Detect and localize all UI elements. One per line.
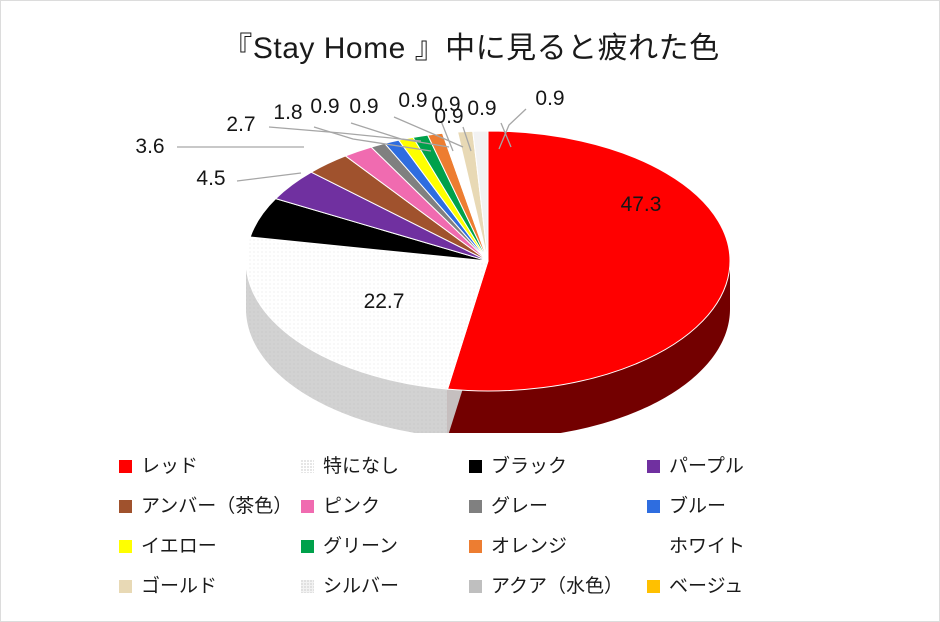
pie-data-label: 1.8 bbox=[273, 101, 302, 124]
legend-label: イエロー bbox=[141, 537, 217, 556]
chart-title: 『Stay Home 』中に見ると疲れた色 bbox=[1, 23, 940, 67]
pie-chart-plot-area[interactable]: 47.322.74.53.62.71.80.90.90.90.90.90.90.… bbox=[1, 63, 940, 433]
legend-row: アンバー（茶色） ピンク グレー ブルー bbox=[119, 486, 819, 526]
legend-swatch-icon bbox=[647, 580, 660, 593]
legend-row: イエロー グリーン オレンジ ホワイト bbox=[119, 526, 819, 566]
legend-label: ホワイト bbox=[669, 537, 745, 556]
pie-data-label: 47.3 bbox=[621, 193, 662, 216]
legend-swatch-icon bbox=[647, 460, 660, 473]
legend-swatch-icon bbox=[301, 580, 314, 593]
legend-row: レッド 特になし ブラック パープル bbox=[119, 446, 819, 486]
legend-swatch-icon bbox=[469, 460, 482, 473]
leader-line bbox=[237, 173, 301, 181]
legend-swatch-icon bbox=[647, 540, 660, 553]
legend-swatch-icon bbox=[301, 540, 314, 553]
legend-label: ピンク bbox=[323, 497, 380, 516]
pie-data-label: 0.9 bbox=[467, 97, 496, 120]
chart-legend: レッド 特になし ブラック パープル アンバー（茶色） ピンク bbox=[119, 446, 819, 606]
pie-chart-svg: 47.322.74.53.62.71.80.90.90.90.90.90.90.… bbox=[1, 63, 940, 433]
pie-data-label: 0.9 bbox=[398, 89, 427, 112]
legend-swatch-icon bbox=[469, 580, 482, 593]
legend-label: ブラック bbox=[491, 457, 567, 476]
legend-item-yellow[interactable]: イエロー bbox=[119, 526, 301, 566]
legend-item-gray[interactable]: グレー bbox=[469, 486, 647, 526]
legend-label: オレンジ bbox=[491, 537, 567, 556]
legend-label: パープル bbox=[669, 457, 744, 476]
legend-item-aqua[interactable]: アクア（水色） bbox=[469, 566, 647, 606]
legend-row: ゴールド シルバー アクア（水色） ベージュ bbox=[119, 566, 819, 606]
legend-swatch-icon bbox=[469, 500, 482, 513]
pie-data-label: 3.6 bbox=[135, 135, 164, 158]
legend-label: 特になし bbox=[323, 457, 399, 476]
legend-item-red[interactable]: レッド bbox=[119, 446, 301, 486]
legend-swatch-icon bbox=[301, 500, 314, 513]
legend-item-amber[interactable]: アンバー（茶色） bbox=[119, 486, 301, 526]
pie-data-label: 0.9 bbox=[434, 105, 463, 128]
legend-label: ベージュ bbox=[669, 577, 743, 596]
legend-item-none[interactable]: 特になし bbox=[301, 446, 469, 486]
legend-item-pink[interactable]: ピンク bbox=[301, 486, 469, 526]
legend-swatch-icon bbox=[469, 540, 482, 553]
legend-label: シルバー bbox=[323, 577, 399, 596]
legend-label: レッド bbox=[141, 457, 198, 476]
leader-line bbox=[269, 127, 421, 141]
legend-label: グレー bbox=[491, 497, 548, 516]
legend-label: グリーン bbox=[323, 537, 398, 556]
legend-swatch-icon bbox=[119, 540, 132, 553]
pie-data-label: 0.9 bbox=[535, 87, 564, 110]
pie-data-label: 4.5 bbox=[196, 167, 225, 190]
legend-swatch-icon bbox=[119, 500, 132, 513]
legend-item-gold[interactable]: ゴールド bbox=[119, 566, 301, 606]
legend-item-orange[interactable]: オレンジ bbox=[469, 526, 647, 566]
chart-frame: 『Stay Home 』中に見ると疲れた色 47.322. bbox=[0, 0, 940, 622]
legend-swatch-icon bbox=[119, 580, 132, 593]
legend-swatch-icon bbox=[119, 460, 132, 473]
legend-label: ブルー bbox=[669, 497, 726, 516]
legend-item-green[interactable]: グリーン bbox=[301, 526, 469, 566]
legend-item-black[interactable]: ブラック bbox=[469, 446, 647, 486]
legend-label: ゴールド bbox=[141, 577, 217, 596]
pie-data-label: 0.9 bbox=[310, 95, 339, 118]
legend-item-purple[interactable]: パープル bbox=[647, 446, 817, 486]
legend-swatch-icon bbox=[301, 460, 314, 473]
legend-item-beige[interactable]: ベージュ bbox=[647, 566, 817, 606]
legend-label: アンバー（茶色） bbox=[141, 497, 292, 516]
pie-data-label: 22.7 bbox=[364, 290, 405, 313]
pie-top-surface bbox=[246, 131, 730, 391]
legend-label: アクア（水色） bbox=[491, 577, 623, 596]
legend-swatch-icon bbox=[647, 500, 660, 513]
legend-item-white[interactable]: ホワイト bbox=[647, 526, 817, 566]
legend-item-silver[interactable]: シルバー bbox=[301, 566, 469, 606]
pie-data-label: 0.9 bbox=[349, 95, 378, 118]
legend-item-blue[interactable]: ブルー bbox=[647, 486, 817, 526]
pie-data-label: 2.7 bbox=[226, 113, 255, 136]
